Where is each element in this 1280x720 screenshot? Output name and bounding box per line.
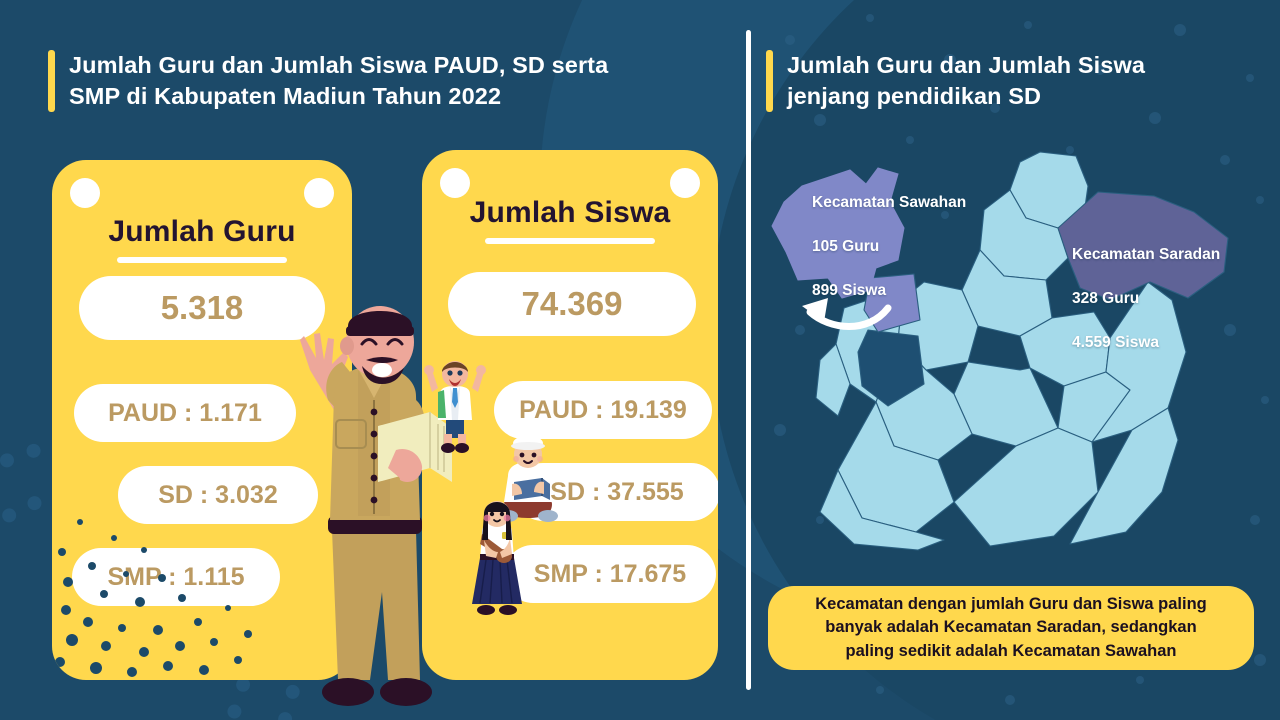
right-title-text: Jumlah Guru dan Jumlah Siswa jenjang pen… xyxy=(787,50,1145,113)
sawahan-district-name: Kecamatan Sawahan xyxy=(812,192,966,214)
student-smp-illustration xyxy=(466,500,528,620)
map-label-saradan: Kecamatan Saradan 328 Guru 4.559 Siswa xyxy=(1072,222,1220,376)
card-siswa-underline xyxy=(485,238,655,244)
guru-paud-pill: PAUD : 1.171 xyxy=(74,384,296,442)
student-paud-illustration xyxy=(424,358,486,454)
card-hole-right-icon xyxy=(304,178,334,208)
card-hole-left-icon xyxy=(70,178,100,208)
panel-divider xyxy=(746,30,751,690)
title-accent-bar xyxy=(766,50,773,112)
left-panel-title: Jumlah Guru dan Jumlah Siswa PAUD, SD se… xyxy=(48,50,608,113)
right-panel-title: Jumlah Guru dan Jumlah Siswa jenjang pen… xyxy=(766,50,1145,113)
sawahan-student-count: 899 Siswa xyxy=(812,280,966,302)
card-siswa-title: Jumlah Siswa xyxy=(422,196,718,230)
card-dot-pattern xyxy=(52,470,262,680)
saradan-district-name: Kecamatan Saradan xyxy=(1072,244,1220,266)
siswa-paud-pill: PAUD : 19.139 xyxy=(494,381,712,439)
infographic-canvas: Jumlah Guru dan Jumlah Siswa PAUD, SD se… xyxy=(0,0,1280,720)
title-accent-bar xyxy=(48,50,55,112)
saradan-student-count: 4.559 Siswa xyxy=(1072,332,1220,354)
siswa-total-pill: 74.369 xyxy=(448,272,696,336)
sawahan-teacher-count: 105 Guru xyxy=(812,236,966,258)
card-guru-underline xyxy=(117,257,287,263)
district-shape xyxy=(954,428,1098,546)
card-hole-right-icon xyxy=(670,168,700,198)
card-guru-title: Jumlah Guru xyxy=(52,215,352,249)
map-label-sawahan: Kecamatan Sawahan 105 Guru 899 Siswa xyxy=(812,170,966,324)
summary-note-box: Kecamatan dengan jumlah Guru dan Siswa p… xyxy=(768,586,1254,670)
siswa-smp-pill: SMP : 17.675 xyxy=(504,545,716,603)
saradan-teacher-count: 328 Guru xyxy=(1072,288,1220,310)
summary-note-text: Kecamatan dengan jumlah Guru dan Siswa p… xyxy=(799,593,1223,663)
left-title-text: Jumlah Guru dan Jumlah Siswa PAUD, SD se… xyxy=(69,50,608,113)
card-hole-left-icon xyxy=(440,168,470,198)
